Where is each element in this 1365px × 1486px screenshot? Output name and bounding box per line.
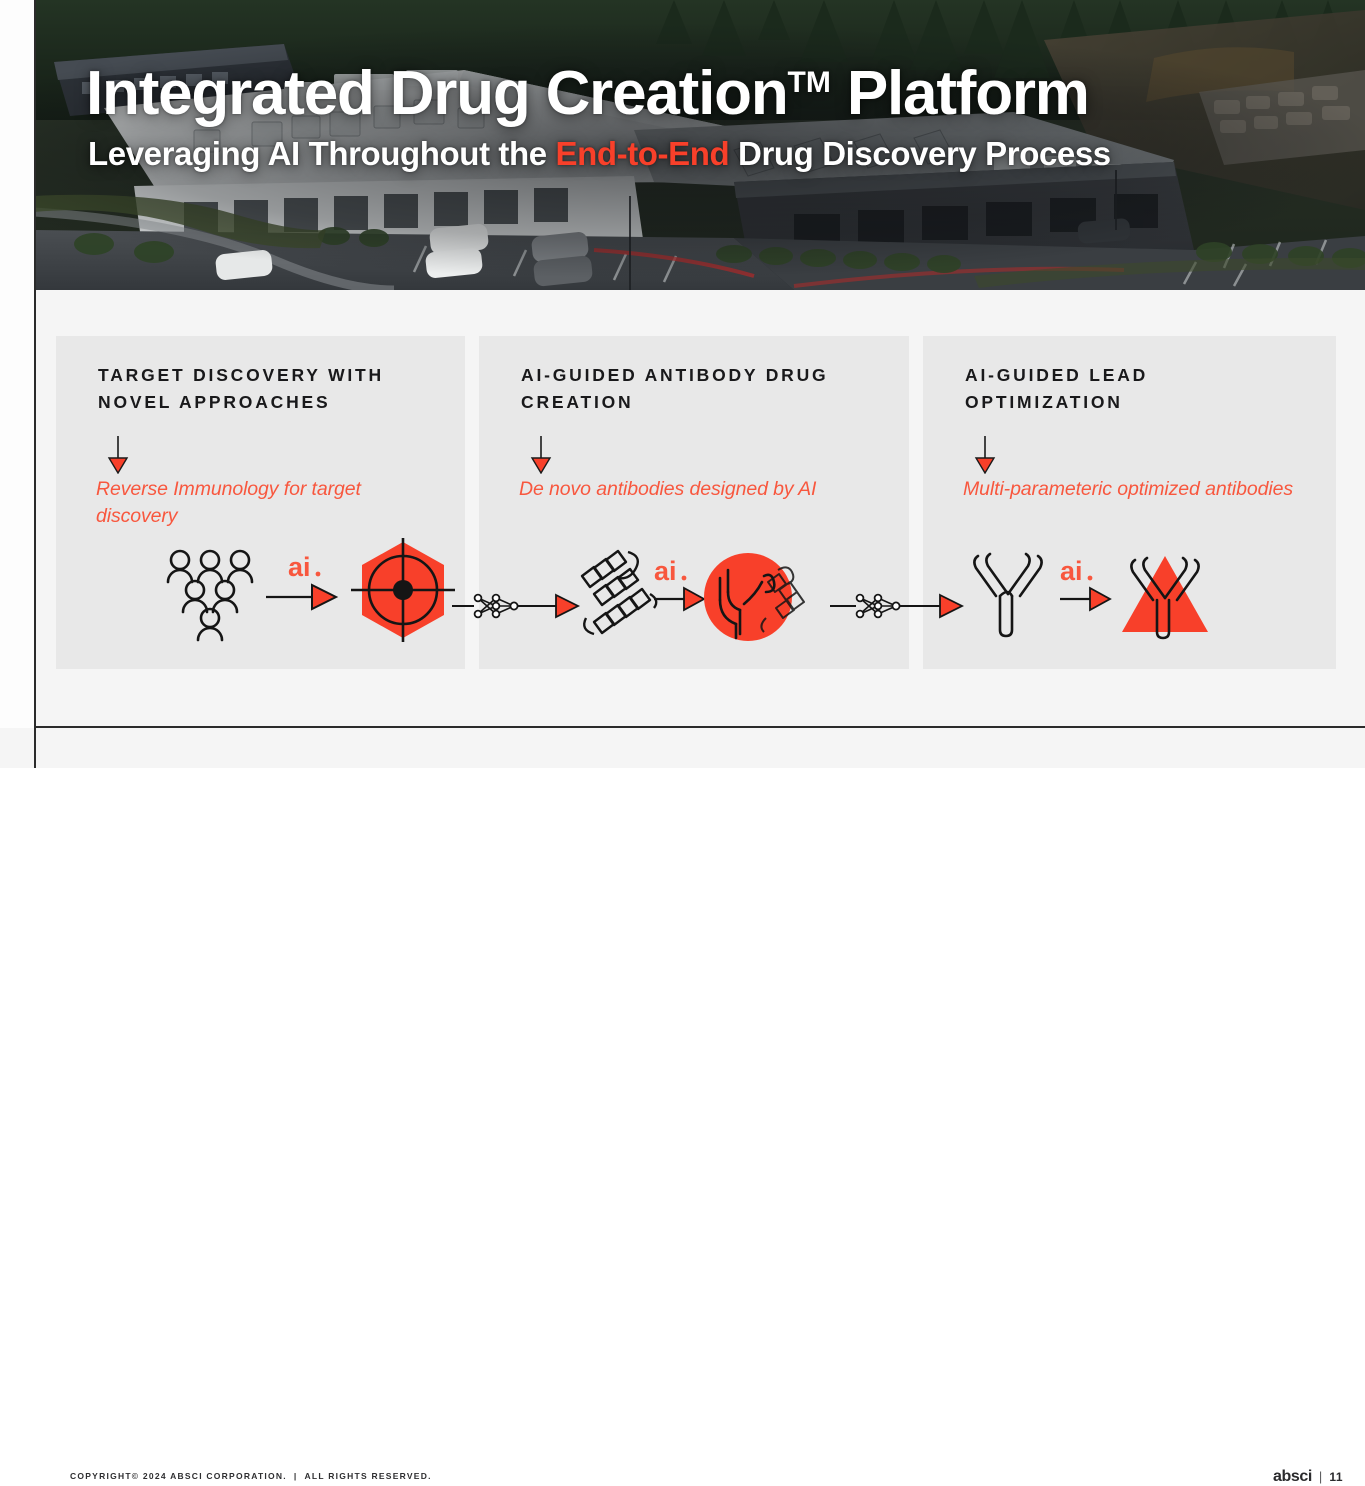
panel-antibody-creation: AI-GUIDED ANTIBODY DRUG CREATION De novo… xyxy=(479,336,909,669)
trademark-mark: TM xyxy=(788,66,831,99)
hero-banner: Integrated Drug CreationTM Platform Leve… xyxy=(34,0,1365,290)
panel-description: De novo antibodies designed by AI xyxy=(519,476,883,503)
hero-text-block: Integrated Drug CreationTM Platform Leve… xyxy=(86,62,1306,173)
page-title-tail: Platform xyxy=(831,59,1089,128)
panel-heading: AI-GUIDED LEAD OPTIMIZATION xyxy=(965,362,1312,416)
down-arrow-icon xyxy=(106,436,130,479)
down-arrow-icon xyxy=(529,436,553,479)
page-title-main: Integrated Drug Creation xyxy=(86,59,788,128)
footer-separator: | xyxy=(287,1471,305,1481)
panel-description: Reverse Immunology for target discovery xyxy=(96,476,439,530)
panel-target-discovery: TARGET DISCOVERY WITH NOVEL APPROACHES R… xyxy=(56,336,465,669)
slide-root: Integrated Drug CreationTM Platform Leve… xyxy=(0,0,1365,768)
subtitle-highlight: End-to-End xyxy=(556,135,730,172)
page-title: Integrated Drug CreationTM Platform xyxy=(86,62,1306,125)
absci-logo: absci xyxy=(1273,1468,1312,1486)
panel-lead-optimization: AI-GUIDED LEAD OPTIMIZATION Multi-parame… xyxy=(923,336,1336,669)
page-subtitle: Leveraging AI Throughout the End-to-End … xyxy=(88,135,1306,173)
panel-heading: TARGET DISCOVERY WITH NOVEL APPROACHES xyxy=(98,362,441,416)
brand-block: absci | 11 xyxy=(1273,1468,1343,1486)
process-panel-group: TARGET DISCOVERY WITH NOVEL APPROACHES R… xyxy=(56,336,1336,669)
footer-divider-rule xyxy=(34,726,1365,728)
down-arrow-icon xyxy=(973,436,997,479)
copyright-text: COPYRIGHT© 2024 ABSCI CORPORATION. xyxy=(70,1471,287,1481)
footer-bar: COPYRIGHT© 2024 ABSCI CORPORATION.|ALL R… xyxy=(0,728,1365,768)
page-number: 11 xyxy=(1329,1470,1343,1484)
panel-heading: AI-GUIDED ANTIBODY DRUG CREATION xyxy=(521,362,885,416)
copyright-notice: COPYRIGHT© 2024 ABSCI CORPORATION.|ALL R… xyxy=(70,1471,432,1481)
left-edge-rule xyxy=(34,0,36,768)
brand-separator: | xyxy=(1319,1469,1322,1484)
subtitle-before: Leveraging AI Throughout the xyxy=(88,135,556,172)
subtitle-after: Drug Discovery Process xyxy=(729,135,1110,172)
panel-description: Multi-parameteric optimized antibodies xyxy=(963,476,1310,503)
rights-text: ALL RIGHTS RESERVED. xyxy=(305,1471,432,1481)
